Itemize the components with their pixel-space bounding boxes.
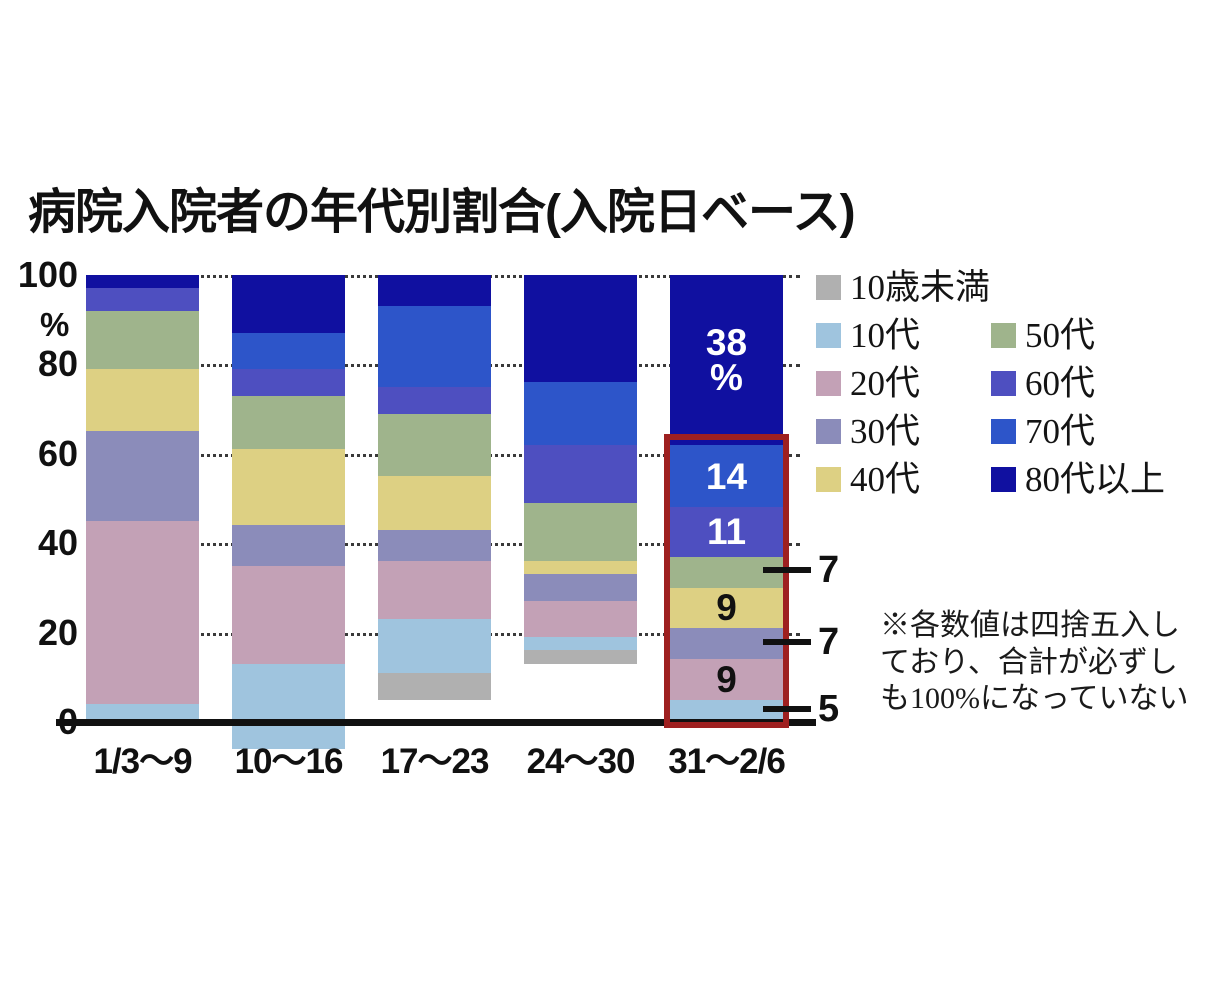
segment-value-label: 9 xyxy=(716,662,737,697)
bar-segment-age10[interactable] xyxy=(524,637,637,650)
legend-row: 10代50代 xyxy=(816,318,1206,353)
legend-label: 10歳未満 xyxy=(850,270,990,305)
x-tick-label: 31〜2/6 xyxy=(657,733,796,784)
legend-swatch-icon xyxy=(991,467,1016,492)
bar-segment-age80plus[interactable] xyxy=(378,275,491,306)
bar-segment-age30[interactable] xyxy=(524,574,637,601)
x-tick-label: 1/3〜9 xyxy=(73,733,212,784)
legend-swatch-icon xyxy=(991,371,1016,396)
stacked-bar[interactable] xyxy=(232,275,345,722)
legend-item-age20[interactable]: 20代 xyxy=(816,366,991,401)
legend-item-under10[interactable]: 10歳未満 xyxy=(816,270,991,305)
bar-segment-age50[interactable] xyxy=(524,503,637,561)
legend-swatch-icon xyxy=(816,419,841,444)
callout-age10: 5 xyxy=(763,690,839,728)
bar-segment-age40[interactable] xyxy=(378,476,491,530)
legend-swatch-icon xyxy=(991,323,1016,348)
y-tick-label: 100 xyxy=(0,257,78,293)
callout-value: 5 xyxy=(818,690,839,728)
bar-segment-age50[interactable] xyxy=(378,414,491,477)
legend-row: 20代60代 xyxy=(816,366,1206,401)
segment-value-label: 9 xyxy=(716,590,737,625)
bar-segment-age70[interactable]: 14 xyxy=(670,445,783,508)
legend-row: 10歳未満 xyxy=(816,270,1206,305)
footnote: ※各数値は四捨五入しており、合計が必ずしも100%になっていない xyxy=(880,608,1200,718)
chart-legend: 10歳未満10代50代20代60代30代70代40代80代以上 xyxy=(816,270,1206,510)
legend-row: 40代80代以上 xyxy=(816,462,1206,497)
stacked-bar[interactable] xyxy=(86,275,199,722)
callout-leader-line xyxy=(763,706,811,712)
y-tick-label: 20 xyxy=(0,615,78,651)
bar-segment-age30[interactable] xyxy=(232,525,345,565)
legend-item-age30[interactable]: 30代 xyxy=(816,414,991,449)
segment-value-label: 38 % xyxy=(706,325,747,395)
legend-item-age40[interactable]: 40代 xyxy=(816,462,991,497)
bar-segment-age80plus[interactable] xyxy=(86,275,199,288)
bar-segment-age20[interactable] xyxy=(86,521,199,704)
page-title: 病院入院者の年代別割合(入院日ベース) xyxy=(28,172,855,242)
callout-value: 7 xyxy=(818,551,839,589)
segment-value-label: 11 xyxy=(707,514,746,549)
legend-item-age70[interactable]: 70代 xyxy=(991,414,1095,449)
bar-segment-age50[interactable] xyxy=(86,311,199,369)
bar-segment-age70[interactable] xyxy=(378,306,491,386)
bar-segment-age20[interactable] xyxy=(232,566,345,664)
stacked-bar[interactable] xyxy=(524,275,637,722)
bar-segment-age80plus[interactable] xyxy=(232,275,345,333)
y-axis-unit: % xyxy=(40,308,69,341)
bar-segment-under10[interactable] xyxy=(378,673,491,700)
bar-segment-age40[interactable] xyxy=(86,369,199,432)
bar-segment-age80plus[interactable]: 38 % xyxy=(670,275,783,445)
bar-segment-age10[interactable] xyxy=(378,619,491,673)
legend-label: 80代以上 xyxy=(1025,462,1165,497)
callout-age50: 7 xyxy=(763,551,839,589)
legend-item-age60[interactable]: 60代 xyxy=(991,366,1095,401)
x-tick-label: 17〜23 xyxy=(365,733,504,784)
legend-swatch-icon xyxy=(816,275,841,300)
bar-segment-age60[interactable] xyxy=(232,369,345,396)
legend-label: 30代 xyxy=(850,414,920,449)
bar-segment-age60[interactable]: 11 xyxy=(670,507,783,556)
stacked-bar[interactable] xyxy=(378,275,491,722)
legend-item-age50[interactable]: 50代 xyxy=(991,318,1095,353)
bar-segment-age40[interactable] xyxy=(524,561,637,574)
callout-leader-line xyxy=(763,567,811,573)
legend-row: 30代70代 xyxy=(816,414,1206,449)
callout-value: 7 xyxy=(818,623,839,661)
bar-segment-age30[interactable] xyxy=(86,431,199,520)
bar-segment-under10[interactable] xyxy=(524,650,637,663)
x-tick-label: 10〜16 xyxy=(219,733,358,784)
legend-item-age80plus[interactable]: 80代以上 xyxy=(991,462,1165,497)
legend-swatch-icon xyxy=(991,419,1016,444)
legend-item-age10[interactable]: 10代 xyxy=(816,318,991,353)
y-tick-label: 40 xyxy=(0,525,78,561)
bar-segment-age20[interactable] xyxy=(524,601,637,637)
bar-segment-age60[interactable] xyxy=(378,387,491,414)
bar-segment-age60[interactable] xyxy=(524,445,637,503)
y-tick-label: 60 xyxy=(0,436,78,472)
chart-plot-area: 38 %141199 xyxy=(86,275,800,722)
legend-label: 60代 xyxy=(1025,366,1095,401)
y-tick-label: 80 xyxy=(0,346,78,382)
x-axis-line xyxy=(56,719,816,726)
legend-label: 70代 xyxy=(1025,414,1095,449)
legend-swatch-icon xyxy=(816,371,841,396)
legend-label: 40代 xyxy=(850,462,920,497)
bar-segment-age60[interactable] xyxy=(86,288,199,310)
bar-segment-age40[interactable] xyxy=(232,449,345,525)
x-tick-label: 24〜30 xyxy=(511,733,650,784)
bar-segment-age70[interactable] xyxy=(524,382,637,445)
legend-label: 10代 xyxy=(850,318,920,353)
legend-swatch-icon xyxy=(816,323,841,348)
legend-swatch-icon xyxy=(816,467,841,492)
legend-label: 20代 xyxy=(850,366,920,401)
segment-value-label: 14 xyxy=(706,459,747,494)
bar-segment-age80plus[interactable] xyxy=(524,275,637,382)
bar-segment-age30[interactable] xyxy=(378,530,491,561)
bar-segment-age20[interactable] xyxy=(378,561,491,619)
bar-segment-age50[interactable] xyxy=(232,396,345,450)
callout-leader-line xyxy=(763,639,811,645)
legend-label: 50代 xyxy=(1025,318,1095,353)
bar-segment-age70[interactable] xyxy=(232,333,345,369)
callout-age30: 7 xyxy=(763,623,839,661)
